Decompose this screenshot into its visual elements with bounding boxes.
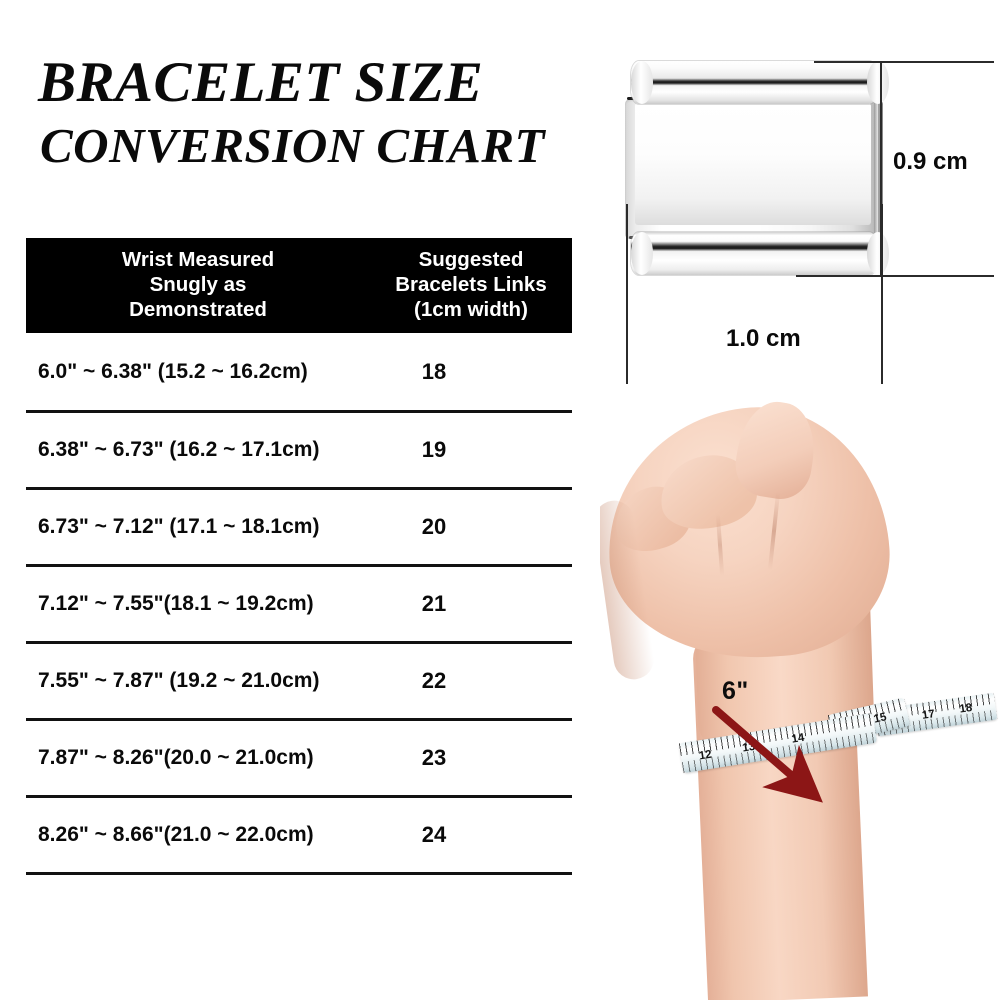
cell-link-count: 19 xyxy=(370,437,572,463)
table-header-wrist: Wrist Measured Snugly as Demonstrated xyxy=(26,247,370,322)
link-bottom-rail-left-cap xyxy=(631,232,653,275)
table-header-wrist-line2: Snugly as xyxy=(26,272,370,297)
dimension-line-top xyxy=(814,61,994,63)
title-line-primary: BRACELET SIZE xyxy=(38,52,598,114)
cell-wrist-range: 8.26" ~ 8.66"(21.0 ~ 22.0cm) xyxy=(26,823,370,847)
link-bottom-rail-right-cap xyxy=(867,232,889,275)
table-row: 7.55" ~ 7.87" (19.2 ~ 21.0cm) 22 xyxy=(26,644,572,721)
table-row: 6.38" ~ 6.73" (16.2 ~ 17.1cm) 19 xyxy=(26,413,572,490)
table-row: 7.87" ~ 8.26"(20.0 ~ 21.0cm) 23 xyxy=(26,721,572,798)
link-height-label: 0.9 cm xyxy=(893,148,968,176)
link-top-rail-right-cap xyxy=(867,61,889,104)
link-top-rail xyxy=(631,61,877,104)
link-plate-right-edge xyxy=(874,101,878,237)
cell-wrist-range: 7.12" ~ 7.55"(18.1 ~ 19.2cm) xyxy=(26,592,370,616)
cell-wrist-range: 6.73" ~ 7.12" (17.1 ~ 18.1cm) xyxy=(26,515,370,539)
cell-wrist-range: 6.0" ~ 6.38" (15.2 ~ 16.2cm) xyxy=(26,360,370,384)
bracelet-link-diagram: 0.9 cm 1.0 cm xyxy=(600,48,1000,388)
link-bottom-rail xyxy=(631,232,877,275)
dimension-line-width-left xyxy=(626,204,628,384)
cell-wrist-range: 7.87" ~ 8.26"(20.0 ~ 21.0cm) xyxy=(26,746,370,770)
dimension-line-bottom xyxy=(796,275,994,277)
table-header-links: Suggested Bracelets Links (1cm width) xyxy=(370,247,572,322)
cell-wrist-range: 6.38" ~ 6.73" (16.2 ~ 17.1cm) xyxy=(26,438,370,462)
cell-link-count: 24 xyxy=(370,822,572,848)
table-header-links-line1: Suggested xyxy=(370,247,572,272)
table-row: 6.73" ~ 7.12" (17.1 ~ 18.1cm) 20 xyxy=(26,490,572,567)
table-header-wrist-line3: Demonstrated xyxy=(26,297,370,322)
size-conversion-table: Wrist Measured Snugly as Demonstrated Su… xyxy=(26,238,572,875)
title-line-secondary: CONVERSION CHART xyxy=(40,118,598,174)
tape-number: 17 xyxy=(921,708,935,722)
page-title: BRACELET SIZE CONVERSION CHART xyxy=(38,52,598,174)
link-plate-highlight xyxy=(635,103,871,225)
cell-link-count: 20 xyxy=(370,514,572,540)
table-row: 8.26" ~ 8.66"(21.0 ~ 22.0cm) 24 xyxy=(26,798,572,875)
table-header-links-line2: Bracelets Links xyxy=(370,272,572,297)
table-header-links-line3: (1cm width) xyxy=(370,297,572,322)
cell-link-count: 23 xyxy=(370,745,572,771)
link-top-rail-left-cap xyxy=(631,61,653,104)
callout-arrow-icon xyxy=(710,700,840,812)
table-body: 6.0" ~ 6.38" (15.2 ~ 16.2cm) 18 6.38" ~ … xyxy=(26,333,572,875)
link-width-label: 1.0 cm xyxy=(726,325,801,353)
cell-link-count: 18 xyxy=(370,359,572,385)
table-row: 6.0" ~ 6.38" (15.2 ~ 16.2cm) 18 xyxy=(26,333,572,413)
tape-number: 18 xyxy=(959,702,973,716)
link-face-plate xyxy=(625,99,883,239)
wrist-measurement-photo: 16 17 18 15 12 13 14 6" xyxy=(600,380,1000,1000)
table-header-row: Wrist Measured Snugly as Demonstrated Su… xyxy=(26,238,572,333)
table-row: 7.12" ~ 7.55"(18.1 ~ 19.2cm) 21 xyxy=(26,567,572,644)
bracelet-link-image xyxy=(625,61,883,275)
dimension-line-width-right xyxy=(881,204,883,384)
cell-link-count: 22 xyxy=(370,668,572,694)
cell-wrist-range: 7.55" ~ 7.87" (19.2 ~ 21.0cm) xyxy=(26,669,370,693)
cell-link-count: 21 xyxy=(370,591,572,617)
table-header-wrist-line1: Wrist Measured xyxy=(26,247,370,272)
